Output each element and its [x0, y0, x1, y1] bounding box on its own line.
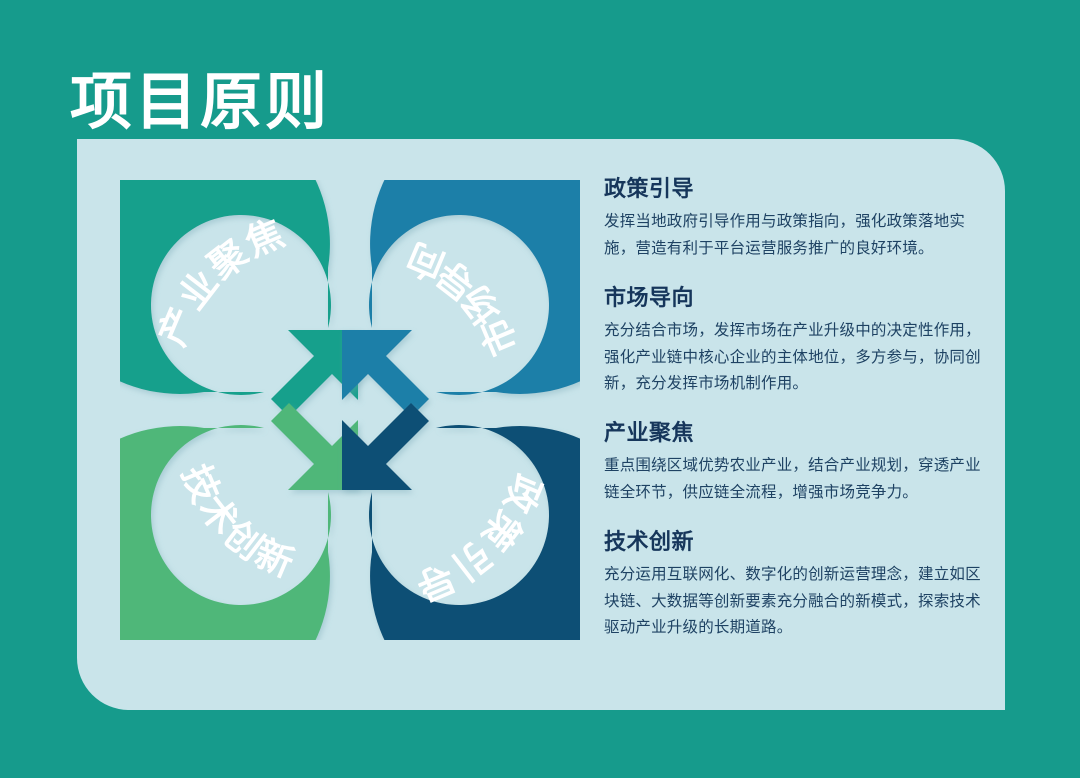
principles-text-column: 政策引导 发挥当地政府引导作用与政策指向，强化政策落地实施，营造有利于平台运营服…: [604, 176, 994, 642]
principle-body-technology: 充分运用互联网化、数字化的创新运营理念，建立如区块链、大数据等创新要素充分融合的…: [604, 562, 994, 642]
segment-top-left[interactable]: [120, 180, 358, 417]
principle-title-market: 市场导向: [604, 285, 994, 311]
principle-section-technology: 技术创新 充分运用互联网化、数字化的创新运营理念，建立如区块链、大数据等创新要素…: [604, 529, 994, 642]
principle-section-industry: 产业聚焦 重点围绕区域优势农业产业，结合产业规划，穿透产业链全环节，供应链全流程…: [604, 420, 994, 507]
principle-body-market: 充分结合市场，发挥市场在产业升级中的决定性作用，强化产业链中核心企业的主体地位，…: [604, 318, 994, 398]
principle-title-industry: 产业聚焦: [604, 420, 994, 446]
principle-title-policy: 政策引导: [604, 176, 994, 202]
principle-body-policy: 发挥当地政府引导作用与政策指向，强化政策落地实施，营造有利于平台运营服务推广的良…: [604, 209, 994, 262]
principle-section-market: 市场导向 充分结合市场，发挥市场在产业升级中的决定性作用，强化产业链中核心企业的…: [604, 285, 994, 398]
segment-bottom-left-label: 技术创新: [175, 459, 302, 586]
segment-top-right-label: 市场导向: [399, 235, 526, 362]
page-title: 项目原则: [70, 69, 330, 137]
principle-body-industry: 重点围绕区域优势农业产业，结合产业规划，穿透产业链全环节，供应链全流程，增强市场…: [604, 453, 994, 506]
four-principles-cycle-diagram: 产业聚焦 市场导向 技术创新 政策引导: [120, 180, 580, 640]
principle-section-policy: 政策引导 发挥当地政府引导作用与政策指向，强化政策落地实施，营造有利于平台运营服…: [604, 176, 994, 263]
segment-top-right-arrowhead: [342, 330, 429, 417]
segment-bottom-right-arrowhead: [342, 403, 429, 490]
principle-title-technology: 技术创新: [604, 529, 994, 555]
segment-bottom-right[interactable]: [342, 403, 580, 640]
